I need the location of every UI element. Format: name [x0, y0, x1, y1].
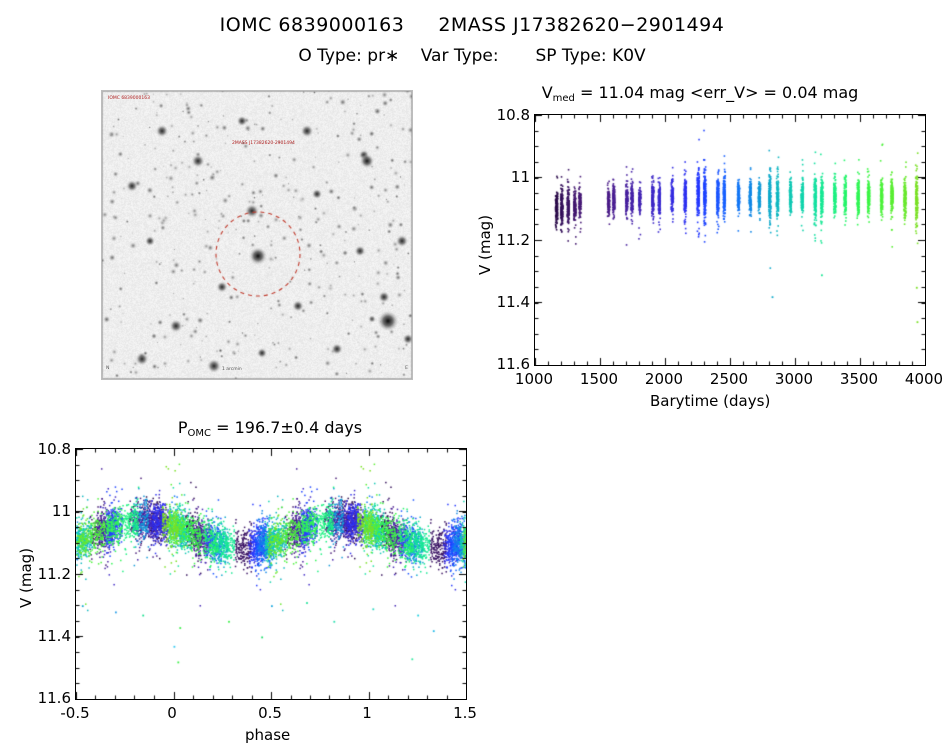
lc-yaxis-title: V (mag) — [476, 215, 494, 275]
ph-ytick-11.0: 11 — [25, 502, 71, 520]
finder-label-scale: 1 arcmin — [222, 367, 242, 372]
lc-xtick-4000: 4000 — [899, 370, 944, 388]
lc-xtick-3000: 3000 — [769, 370, 819, 388]
period-rest: = 196.7±0.4 days — [211, 418, 362, 437]
otype-label: O Type: — [298, 46, 362, 66]
phase-plot-area — [75, 448, 467, 700]
lc-xtick-2500: 2500 — [704, 370, 754, 388]
finder-chart-image: IOMC 6839000163 2MASS J17382620-2901494 … — [101, 90, 413, 380]
lightcurve-time-title: Vmed = 11.04 mag <err_V> = 0.04 mag — [470, 83, 930, 104]
vartype-label: Var Type: — [421, 46, 499, 66]
ph-xtick--0.5: -0.5 — [50, 704, 100, 722]
finder-label-bottomright: E — [405, 366, 408, 371]
lc-ytick-11.0: 11 — [484, 168, 530, 186]
ph-xaxis-title: phase — [245, 726, 290, 744]
ph-xtick-1.0: 1 — [342, 704, 392, 722]
period-p: P — [178, 418, 188, 437]
vmed-v: V — [542, 83, 553, 102]
otype-value: pr∗ — [367, 46, 399, 66]
sptype-label: SP Type: — [535, 46, 606, 66]
ph-xtick-1.5: 1.5 — [440, 704, 490, 722]
ph-ytick-11.4: 11.4 — [25, 627, 71, 645]
header-block: IOMC 68390001632MASS J17382620−2901494 O… — [0, 0, 944, 66]
ph-yaxis-title: V (mag) — [17, 548, 35, 608]
page-title: IOMC 68390001632MASS J17382620−2901494 — [0, 14, 944, 36]
ph-xtick-0.5: 0.5 — [245, 704, 295, 722]
period-sub: OMC — [188, 428, 211, 439]
phase-plot-title: POMC = 196.7±0.4 days — [60, 418, 480, 439]
vmed-rest: = 11.04 mag <err_V> = 0.04 mag — [575, 83, 858, 102]
lc-xtick-1000: 1000 — [509, 370, 559, 388]
finder-label-topleft: IOMC 6839000163 — [108, 96, 150, 101]
vmed-sub: med — [553, 93, 575, 104]
lc-ytick-10.8: 10.8 — [484, 106, 530, 124]
lc-xtick-2000: 2000 — [639, 370, 689, 388]
iomc-id: IOMC 6839000163 — [220, 14, 405, 36]
object-types-line: O Type: pr∗ Var Type: SP Type: K0V — [0, 46, 944, 66]
finder-label-bottomleft: N — [106, 366, 109, 371]
lc-xtick-1500: 1500 — [574, 370, 624, 388]
lightcurve-time-plot-area — [534, 114, 926, 366]
lc-ytick-11.4: 11.4 — [484, 293, 530, 311]
finder-label-center: 2MASS J17382620-2901494 — [232, 141, 295, 146]
twomass-id: 2MASS J17382620−2901494 — [438, 14, 724, 36]
ph-xtick-0.0: 0 — [147, 704, 197, 722]
ph-ytick-10.8: 10.8 — [25, 440, 71, 458]
sptype-value: K0V — [612, 46, 646, 66]
lc-xtick-3500: 3500 — [834, 370, 884, 388]
lc-xaxis-title: Barytime (days) — [650, 392, 770, 410]
